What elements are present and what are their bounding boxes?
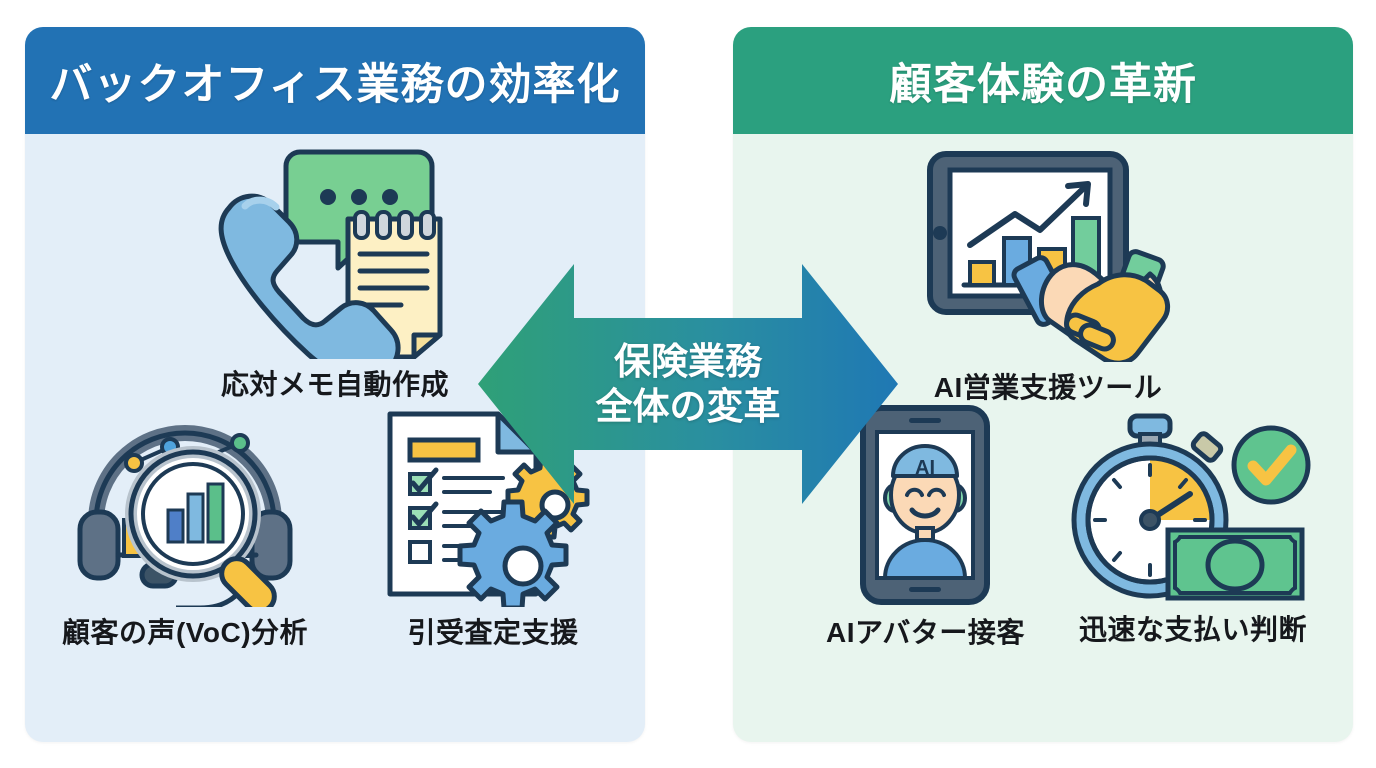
item-voc-analysis[interactable]: 顧客の声(VoC)分析 — [25, 402, 350, 651]
item-label-voc-analysis: 顧客の声(VoC)分析 — [62, 611, 308, 651]
item-label-ai-sales-tool: AI営業支援ツール — [934, 366, 1163, 406]
item-label-ai-avatar-service: AIアバター接客 — [826, 611, 1025, 651]
left-panel-title: バックオフィス業務の効率化 — [49, 50, 620, 112]
avatar-ai-badge-text: AI — [915, 457, 935, 479]
item-label-response-memo: 応対メモ自動作成 — [221, 363, 449, 403]
item-fast-payment-decision[interactable]: 迅速な支払い判断 — [1038, 402, 1348, 648]
center-transformation-arrow: 保険業務 全体の変革 — [478, 258, 898, 510]
item-label-fast-payment-decision: 迅速な支払い判断 — [1079, 608, 1307, 648]
infographic-canvas: バックオフィス業務の効率化 — [0, 0, 1376, 768]
phone-speech-notepad-icon — [205, 144, 465, 359]
item-label-underwriting-support: 引受査定支援 — [407, 611, 578, 651]
headset-chart-magnifier-icon — [60, 402, 310, 607]
double-arrow-shape — [478, 258, 898, 510]
item-ai-sales-tool[interactable]: AI営業支援ツール — [868, 142, 1228, 406]
tablet-growth-handshake-icon — [908, 142, 1188, 362]
right-panel-header: 顧客体験の革新 — [733, 27, 1353, 134]
right-panel-title: 顧客体験の革新 — [889, 50, 1197, 112]
left-panel-header: バックオフィス業務の効率化 — [25, 27, 645, 134]
stopwatch-check-banknote-icon — [1068, 402, 1318, 604]
